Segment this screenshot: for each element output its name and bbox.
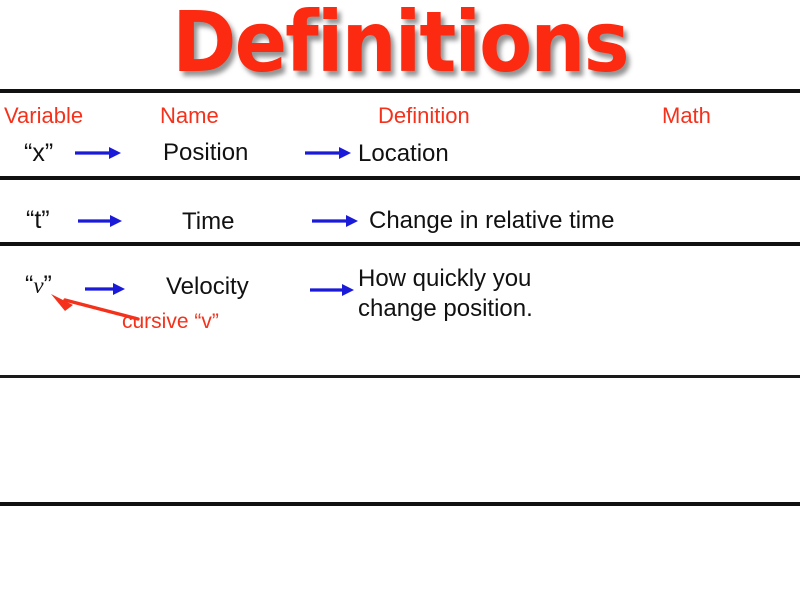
row3-name-value: Velocity xyxy=(166,273,249,301)
row2-arrow-variable-to-name xyxy=(78,212,122,235)
page-title: Definitions xyxy=(32,0,768,90)
row1-variable-symbol: “x” xyxy=(24,139,53,167)
table-rule-row1-bottom xyxy=(0,176,800,180)
table-rule-row2-bottom xyxy=(0,242,800,246)
column-header-name: Name xyxy=(160,104,219,128)
column-header-math: Math xyxy=(662,104,711,128)
column-header-definition: Definition xyxy=(378,104,470,128)
row3-cursive-v-glyph: v xyxy=(33,273,43,298)
row3-definition-line2: change position. xyxy=(358,294,533,324)
row1-name-value: Position xyxy=(163,139,248,167)
table-rule-row4-bottom xyxy=(0,502,800,506)
row1-arrow-name-to-definition xyxy=(305,144,351,167)
row3-annotation-label: cursive “v” xyxy=(122,310,219,334)
row2-name-value: Time xyxy=(182,208,234,236)
slide-canvas: Definitions Variable Name Definition Mat… xyxy=(0,0,800,600)
column-header-variable: Variable xyxy=(4,104,83,128)
row2-arrow-name-to-definition xyxy=(312,212,358,235)
row2-variable-symbol: “t” xyxy=(26,206,50,234)
row3-arrow-name-to-definition xyxy=(310,281,354,304)
row2-definition-value: Change in relative time xyxy=(369,206,614,236)
row1-definition-value: Location xyxy=(358,139,449,169)
row1-arrow-variable-to-name xyxy=(75,144,121,167)
row3-definition-line1: How quickly you xyxy=(358,264,533,294)
table-rule-row3-bottom xyxy=(0,375,800,378)
table-rule-top xyxy=(0,89,800,93)
row3-definition-value: How quickly you change position. xyxy=(358,264,533,324)
